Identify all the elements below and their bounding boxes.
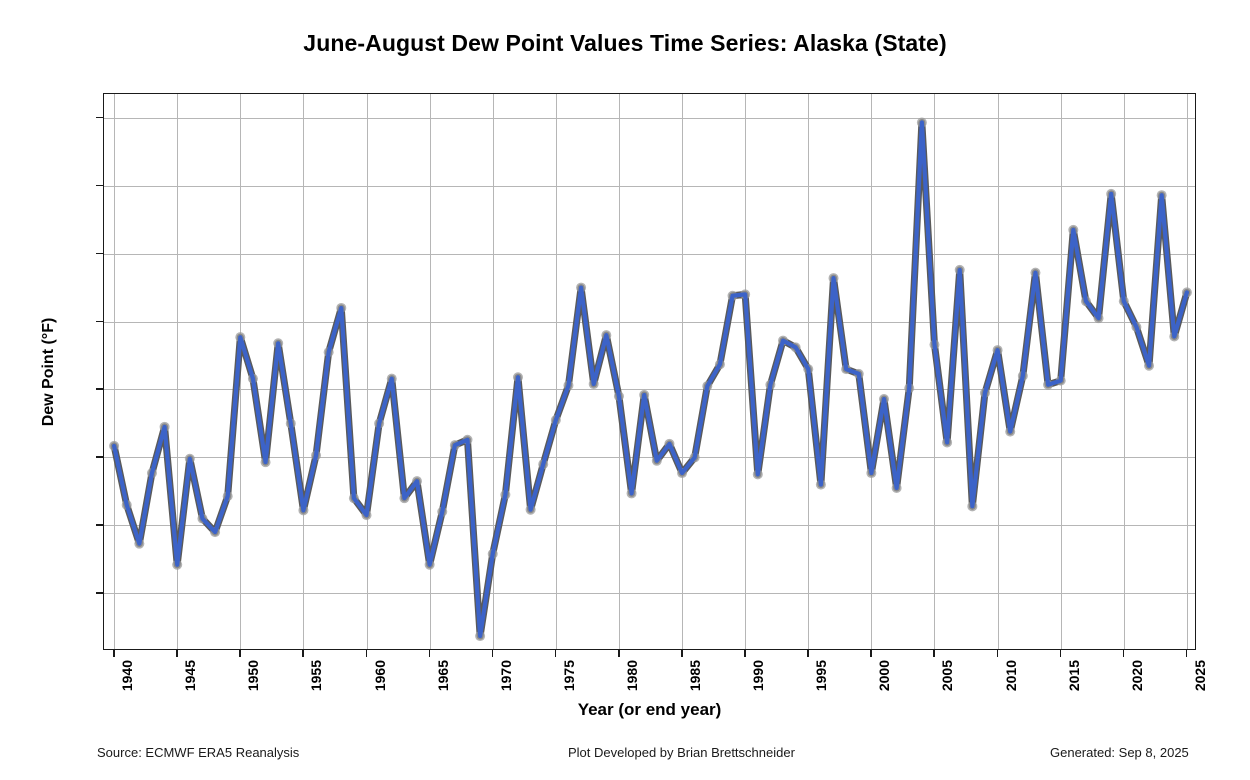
footer-author: Plot Developed by Brian Brettschneider: [568, 745, 795, 760]
footer-source: Source: ECMWF ERA5 Reanalysis: [97, 745, 299, 760]
x-tick-label: 2010: [1003, 660, 1019, 691]
x-tick-mark: [1123, 650, 1125, 657]
x-tick-mark: [366, 650, 368, 657]
x-tick-mark: [807, 650, 809, 657]
y-tick-mark: [96, 185, 103, 187]
y-tick-mark: [96, 456, 103, 458]
x-tick-mark: [1186, 650, 1188, 657]
x-tick-label: 1960: [372, 660, 388, 691]
x-tick-label: 2015: [1066, 660, 1082, 691]
x-tick-mark: [997, 650, 999, 657]
x-tick-label: 1940: [119, 660, 135, 691]
footer: Source: ECMWF ERA5 Reanalysis Plot Devel…: [0, 745, 1250, 769]
x-tick-label: 1990: [750, 660, 766, 691]
x-tick-label: 2005: [939, 660, 955, 691]
x-tick-mark: [113, 650, 115, 657]
chart-root: June-August Dew Point Values Time Series…: [0, 0, 1250, 780]
x-tick-mark: [618, 650, 620, 657]
x-tick-mark: [429, 650, 431, 657]
chart-title: June-August Dew Point Values Time Series…: [0, 30, 1250, 57]
x-axis-title: Year (or end year): [103, 700, 1196, 720]
x-tick-label: 1955: [308, 660, 324, 691]
x-tick-label: 1980: [624, 660, 640, 691]
y-tick-mark: [96, 592, 103, 594]
x-tick-mark: [870, 650, 872, 657]
y-tick-mark: [96, 388, 103, 390]
x-tick-label: 2000: [876, 660, 892, 691]
y-tick-mark: [96, 117, 103, 119]
y-tick-mark: [96, 253, 103, 255]
x-tick-mark: [239, 650, 241, 657]
x-tick-mark: [1060, 650, 1062, 657]
x-tick-mark: [933, 650, 935, 657]
y-tick-mark: [96, 524, 103, 526]
data-series-line: [104, 94, 1197, 651]
plot-area: [103, 93, 1196, 650]
x-tick-label: 1970: [498, 660, 514, 691]
x-tick-label: 1975: [561, 660, 577, 691]
x-tick-label: 2025: [1192, 660, 1208, 691]
x-tick-label: 1945: [182, 660, 198, 691]
x-tick-label: 1985: [687, 660, 703, 691]
y-tick-mark: [96, 321, 103, 323]
y-axis-title-container: Dew Point (°F): [55, 93, 56, 650]
x-tick-mark: [744, 650, 746, 657]
x-tick-label: 2020: [1129, 660, 1145, 691]
x-tick-mark: [176, 650, 178, 657]
x-tick-mark: [555, 650, 557, 657]
y-axis-title: Dew Point (°F): [40, 317, 58, 426]
footer-generated: Generated: Sep 8, 2025: [1050, 745, 1189, 760]
x-tick-mark: [302, 650, 304, 657]
x-tick-label: 1965: [435, 660, 451, 691]
x-tick-label: 1995: [813, 660, 829, 691]
x-tick-mark: [492, 650, 494, 657]
x-tick-label: 1950: [245, 660, 261, 691]
x-tick-mark: [681, 650, 683, 657]
